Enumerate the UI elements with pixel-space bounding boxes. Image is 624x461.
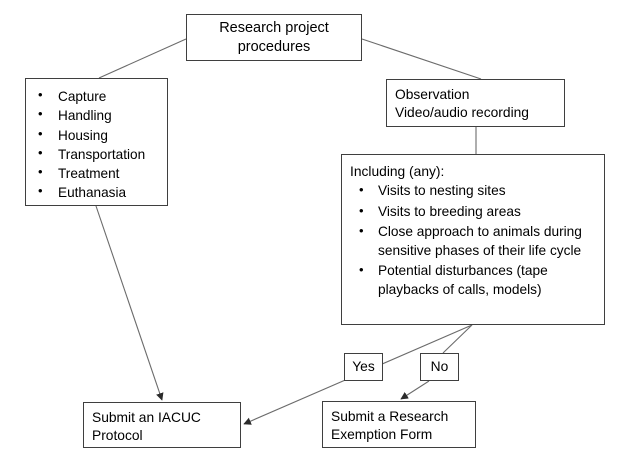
- node-body: Capture Handling Housing Transportation …: [26, 79, 167, 205]
- procedures-bullet-list: Capture Handling Housing Transportation …: [32, 87, 163, 203]
- edge-procedures-to-iacuc: [96, 206, 162, 400]
- edge-label-no[interactable]: No: [420, 353, 459, 381]
- list-item: Housing: [32, 126, 163, 145]
- list-item: Handling: [32, 106, 163, 125]
- including-lead-label: Including (any):: [350, 163, 596, 181]
- node-observation[interactable]: Observation Video/audio recording: [386, 79, 565, 127]
- node-submit-research-exemption-form[interactable]: Submit a Research Exemption Form: [322, 401, 476, 448]
- node-body: Research project procedures: [187, 15, 361, 60]
- node-label: Submit a Research Exemption Form: [331, 408, 475, 443]
- node-body: Including (any): Visits to nesting sites…: [342, 155, 604, 324]
- list-item: Treatment: [32, 164, 163, 183]
- edge-root-to-observation: [362, 39, 481, 79]
- node-label: Submit an IACUC Protocol: [92, 409, 240, 444]
- node-label: Research project procedures: [219, 19, 329, 56]
- node-body: No: [421, 354, 458, 380]
- flowchart-canvas: Research project procedures Capture Hand…: [0, 0, 624, 461]
- including-bullet-list: Visits to nesting sites Visits to breedi…: [350, 182, 596, 300]
- node-procedures-list[interactable]: Capture Handling Housing Transportation …: [25, 78, 168, 206]
- list-item: Potential disturbances (tape playbacks o…: [350, 262, 596, 299]
- list-item: Visits to nesting sites: [350, 182, 596, 201]
- edge-root-to-procedures: [99, 39, 186, 78]
- node-body: Submit an IACUC Protocol: [84, 403, 240, 447]
- list-item: Transportation: [32, 145, 163, 164]
- list-item: Capture: [32, 87, 163, 106]
- node-submit-iacuc-protocol[interactable]: Submit an IACUC Protocol: [83, 402, 241, 448]
- node-research-project-procedures[interactable]: Research project procedures: [186, 14, 362, 61]
- node-body: Observation Video/audio recording: [387, 80, 564, 126]
- node-label: Observation Video/audio recording: [395, 86, 564, 121]
- edge-no-to-exemption: [401, 381, 429, 399]
- edge-including-no-to-no-label: [443, 325, 472, 353]
- node-including-any[interactable]: Including (any): Visits to nesting sites…: [341, 154, 605, 325]
- node-label: No: [431, 358, 449, 376]
- list-item: Visits to breeding areas: [350, 203, 596, 222]
- list-item: Close approach to animals during sensiti…: [350, 223, 596, 260]
- node-body: Submit a Research Exemption Form: [323, 402, 475, 447]
- edge-label-yes[interactable]: Yes: [344, 353, 383, 381]
- node-body: Yes: [345, 354, 382, 380]
- list-item: Euthanasia: [32, 183, 163, 202]
- node-label: Yes: [352, 358, 375, 376]
